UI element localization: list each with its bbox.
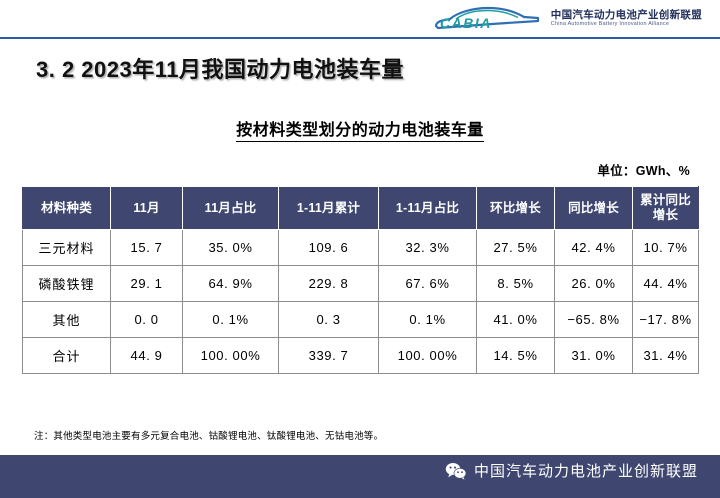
brand-name-en: China Automotive Battery Innovation Alli… [551, 22, 702, 28]
table-row: 合计 44. 9 100. 00% 339. 7 100. 00% 14. 5%… [23, 338, 699, 374]
column-header-cumulative-yoy-growth: 累计同比增长 [633, 187, 699, 230]
cell-cumulative-yoy-growth: −17. 8% [633, 302, 699, 338]
table-row: 磷酸铁锂 29. 1 64. 9% 229. 8 67. 6% 8. 5% 26… [23, 266, 699, 302]
cell-cumulative: 339. 7 [279, 338, 379, 374]
cell-nov-share: 64. 9% [183, 266, 279, 302]
page-title: 3. 2 2023年11月我国动力电池装车量 [36, 52, 404, 84]
section-subtitle: 按材料类型划分的动力电池装车量 [0, 116, 720, 140]
cell-nov: 15. 7 [111, 230, 183, 266]
cell-cumulative-share: 0. 1% [379, 302, 477, 338]
top-header: CABIA 中国汽车动力电池产业创新联盟 China Automotive Ba… [0, 0, 720, 38]
unit-label: 单位：GWh、% [597, 160, 690, 179]
brand-logo: CABIA 中国汽车动力电池产业创新联盟 China Automotive Ba… [430, 6, 702, 32]
cell-category: 磷酸铁锂 [23, 266, 111, 302]
cell-cumulative-share: 32. 3% [379, 230, 477, 266]
cell-cumulative-yoy-growth: 31. 4% [633, 338, 699, 374]
header-divider [0, 37, 720, 39]
cell-nov-share: 35. 0% [183, 230, 279, 266]
cell-cumulative: 109. 6 [279, 230, 379, 266]
cell-yoy-growth: 31. 0% [555, 338, 633, 374]
cell-nov: 29. 1 [111, 266, 183, 302]
cell-mom-growth: 41. 0% [477, 302, 555, 338]
cell-yoy-growth: 26. 0% [555, 266, 633, 302]
cell-mom-growth: 8. 5% [477, 266, 555, 302]
column-header-cumulative-share: 1-11月占比 [379, 187, 477, 230]
cell-cumulative-share: 100. 00% [379, 338, 477, 374]
cell-category: 合计 [23, 338, 111, 374]
brand-logo-text: 中国汽车动力电池产业创新联盟 China Automotive Battery … [551, 10, 702, 28]
cell-nov-share: 0. 1% [183, 302, 279, 338]
cell-category: 三元材料 [23, 230, 111, 266]
brand-name-cn: 中国汽车动力电池产业创新联盟 [551, 10, 702, 21]
cell-yoy-growth: −65. 8% [555, 302, 633, 338]
cell-nov: 44. 9 [111, 338, 183, 374]
cell-mom-growth: 14. 5% [477, 338, 555, 374]
footer-brand: 中国汽车动力电池产业创新联盟 [445, 460, 698, 481]
cell-mom-growth: 27. 5% [477, 230, 555, 266]
column-header-cumulative: 1-11月累计 [279, 187, 379, 230]
footer-bar: 中国汽车动力电池产业创新联盟 [0, 455, 720, 498]
column-header-mom-growth: 环比增长 [477, 187, 555, 230]
cell-nov-share: 100. 00% [183, 338, 279, 374]
footnote: 注：其他类型电池主要有多元复合电池、钴酸锂电池、钛酸锂电池、无钴电池等。 [34, 428, 383, 442]
battery-installation-table: 材料种类 11月 11月占比 1-11月累计 1-11月占比 环比增长 同比增长… [22, 186, 699, 374]
table-row: 其他 0. 0 0. 1% 0. 3 0. 1% 41. 0% −65. 8% … [23, 302, 699, 338]
table-row: 三元材料 15. 7 35. 0% 109. 6 32. 3% 27. 5% 4… [23, 230, 699, 266]
cell-yoy-growth: 42. 4% [555, 230, 633, 266]
column-header-yoy-growth: 同比增长 [555, 187, 633, 230]
cell-cumulative-share: 67. 6% [379, 266, 477, 302]
cell-nov: 0. 0 [111, 302, 183, 338]
cell-cumulative: 229. 8 [279, 266, 379, 302]
column-header-category: 材料种类 [23, 187, 111, 230]
cell-cumulative-yoy-growth: 10. 7% [633, 230, 699, 266]
column-header-nov: 11月 [111, 187, 183, 230]
section-subtitle-text: 按材料类型划分的动力电池装车量 [236, 122, 484, 142]
svg-text:CABIA: CABIA [440, 15, 492, 31]
cell-cumulative-yoy-growth: 44. 4% [633, 266, 699, 302]
table-header-row: 材料种类 11月 11月占比 1-11月累计 1-11月占比 环比增长 同比增长… [23, 187, 699, 230]
wechat-icon [445, 462, 467, 480]
cabia-logo-icon: CABIA [430, 6, 542, 32]
cell-cumulative: 0. 3 [279, 302, 379, 338]
battery-installation-table-wrapper: 材料种类 11月 11月占比 1-11月累计 1-11月占比 环比增长 同比增长… [22, 186, 698, 374]
column-header-nov-share: 11月占比 [183, 187, 279, 230]
cell-category: 其他 [23, 302, 111, 338]
footer-brand-text: 中国汽车动力电池产业创新联盟 [474, 460, 698, 481]
